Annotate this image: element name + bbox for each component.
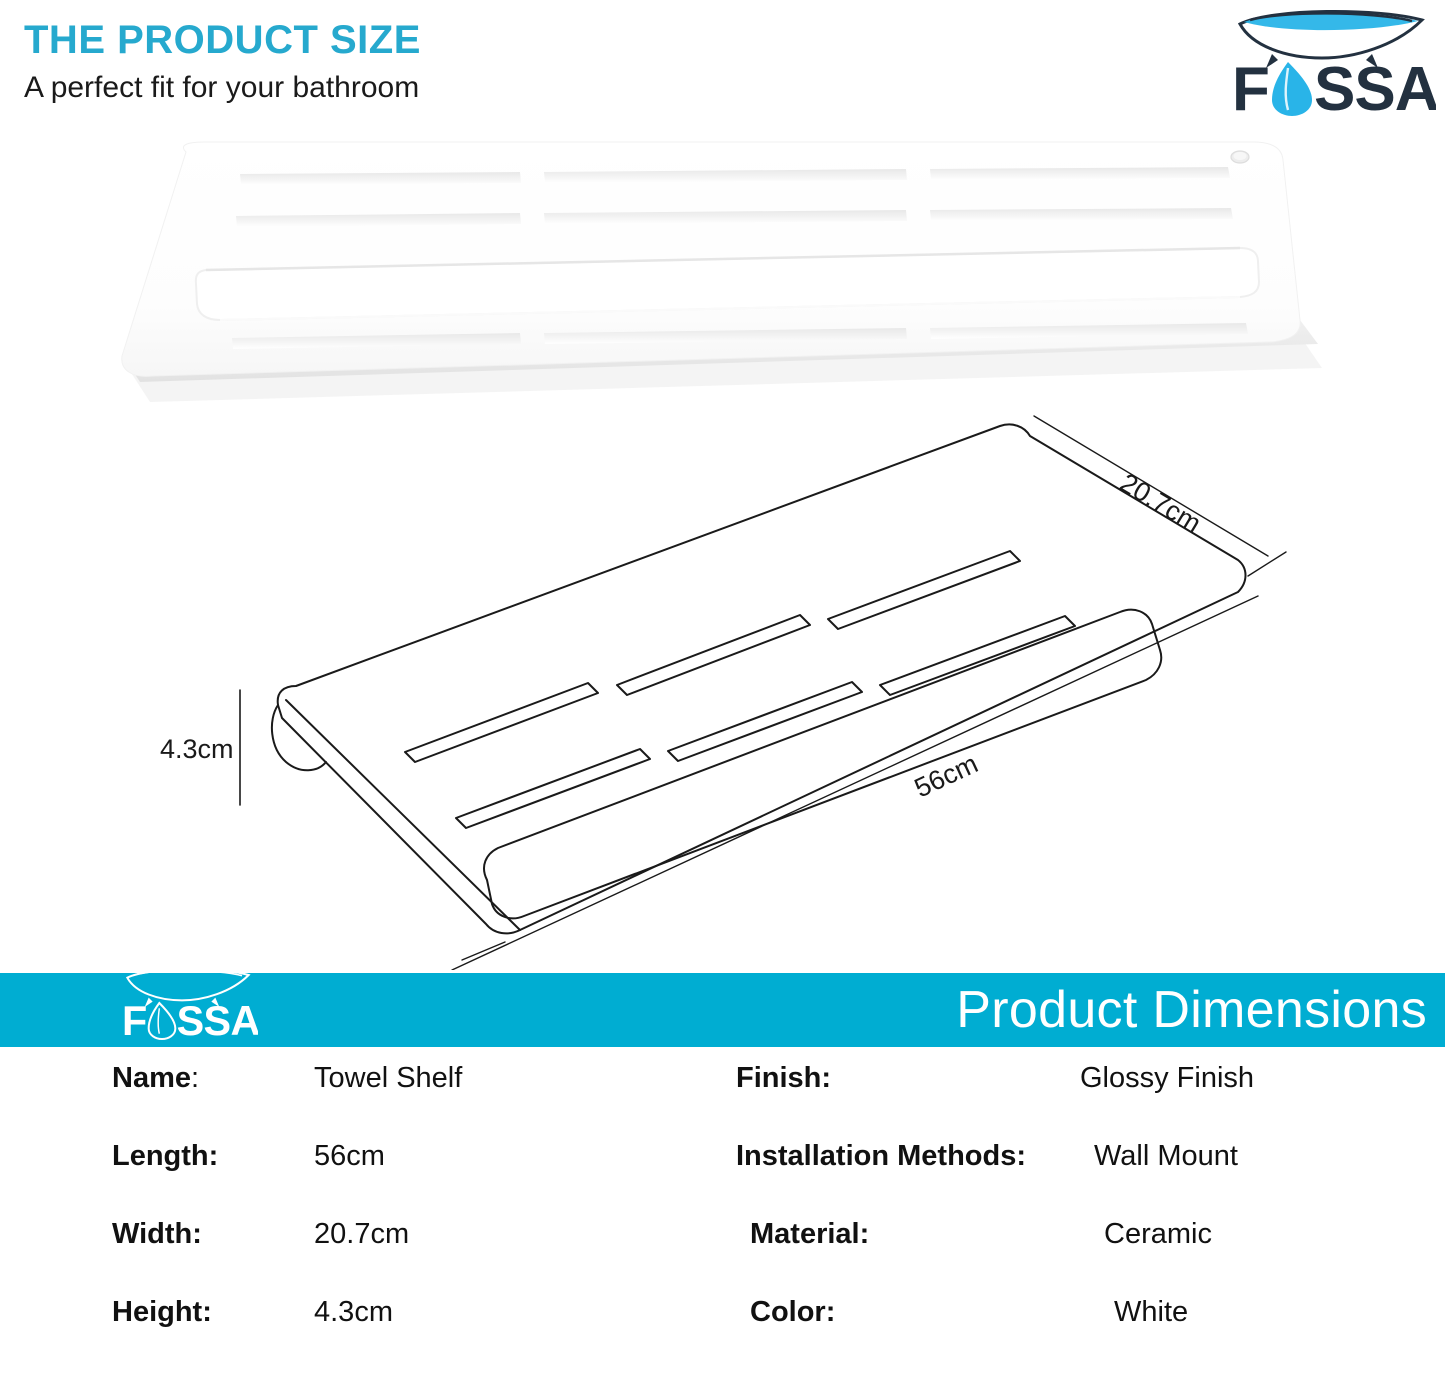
spec-value-length: 56cm xyxy=(314,1140,385,1173)
spec-column-left: Name: Towel Shelf Length: 56cm Width: 20… xyxy=(112,1062,712,1374)
brand-logo-header: F SSA xyxy=(1226,6,1436,118)
banner-title: Product Dimensions xyxy=(956,984,1427,1036)
spec-value-height: 4.3cm xyxy=(314,1296,393,1329)
spec-key-width: Width: xyxy=(112,1218,202,1251)
fossa-logo-icon: F SSA xyxy=(1226,6,1436,118)
spec-value-width: 20.7cm xyxy=(314,1218,409,1251)
svg-text:SSA: SSA xyxy=(1314,55,1436,118)
product-infographic-page: THE PRODUCT SIZE A perfect fit for your … xyxy=(0,0,1445,1391)
spec-row-finish: Finish: Glossy Finish xyxy=(736,1062,1436,1140)
spec-value-material: Ceramic xyxy=(1104,1218,1212,1251)
spec-key-material: Material: xyxy=(750,1218,869,1251)
brand-logo-banner: F SSA xyxy=(118,959,258,1047)
svg-text:F: F xyxy=(1232,55,1269,118)
spec-row-material: Material: Ceramic xyxy=(736,1218,1436,1296)
fossa-logo-white-icon: F SSA xyxy=(118,959,258,1047)
spec-row-width: Width: 20.7cm xyxy=(112,1218,712,1296)
spec-key-installation-methods: Installation Methods: xyxy=(736,1140,1026,1173)
product-dimensions-banner: F SSA Product Dimensions xyxy=(0,973,1445,1047)
svg-text:SSA: SSA xyxy=(177,998,258,1044)
spec-key-color: Color: xyxy=(750,1296,835,1329)
spec-value-installation-methods: Wall Mount xyxy=(1094,1140,1238,1173)
spec-key-length: Length: xyxy=(112,1140,218,1173)
spec-row-installation-methods: Installation Methods: Wall Mount xyxy=(736,1140,1436,1218)
spec-key-height: Height: xyxy=(112,1296,212,1329)
spec-column-right: Finish: Glossy Finish Installation Metho… xyxy=(736,1062,1436,1374)
technical-drawing-image: 20.7cm 56cm 4.3cm xyxy=(0,400,1445,970)
specifications-table: Name: Towel Shelf Length: 56cm Width: 20… xyxy=(0,1062,1445,1392)
product-photo xyxy=(0,130,1445,410)
spec-value-finish: Glossy Finish xyxy=(1080,1062,1254,1095)
svg-text:F: F xyxy=(122,998,147,1044)
spec-row-color: Color: White xyxy=(736,1296,1436,1374)
spec-key-name: Name: xyxy=(112,1062,199,1095)
spec-key-finish: Finish: xyxy=(736,1062,831,1095)
technical-drawing: 20.7cm 56cm 4.3cm xyxy=(0,400,1445,970)
spec-value-name: Towel Shelf xyxy=(314,1062,462,1095)
spec-value-color: White xyxy=(1114,1296,1188,1329)
dimension-label-height: 4.3cm xyxy=(160,734,234,764)
spec-row-height: Height: 4.3cm xyxy=(112,1296,712,1374)
page-subtitle: A perfect fit for your bathroom xyxy=(24,70,419,106)
header: THE PRODUCT SIZE A perfect fit for your … xyxy=(0,0,1445,130)
page-title: THE PRODUCT SIZE xyxy=(24,20,421,60)
spec-row-length: Length: 56cm xyxy=(112,1140,712,1218)
dimension-label-width: 20.7cm xyxy=(1115,467,1206,538)
spec-row-name: Name: Towel Shelf xyxy=(112,1062,712,1140)
towel-shelf-photo-image xyxy=(0,130,1445,410)
